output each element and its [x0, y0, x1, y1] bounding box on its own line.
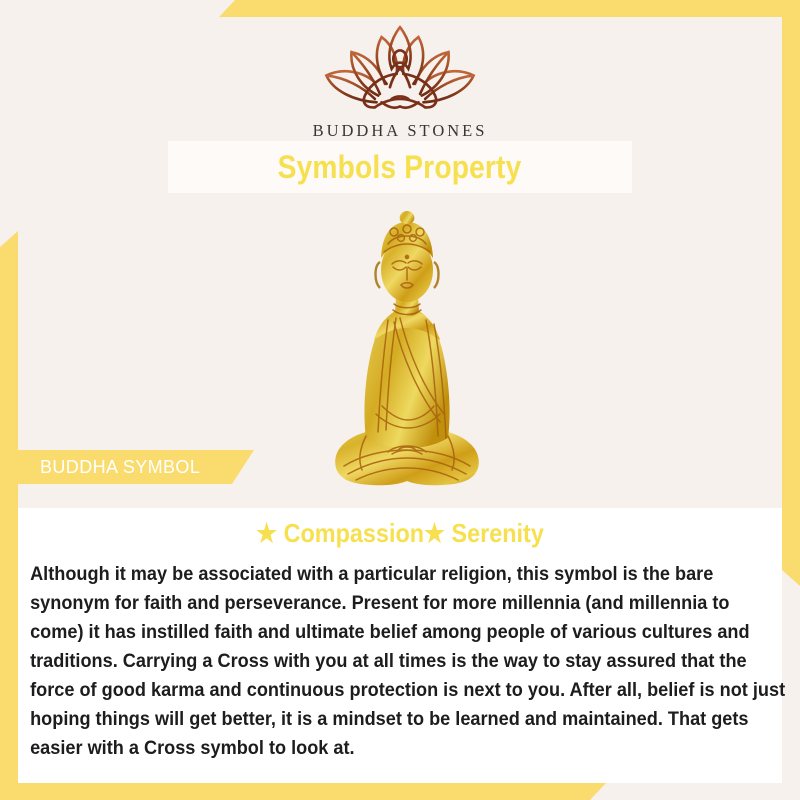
- title-band: Symbols Property: [168, 141, 632, 193]
- frame-accent-left: [0, 231, 18, 800]
- seated-buddha-statue: [322, 200, 492, 500]
- brand-block: BUDDHA STONES: [0, 22, 800, 141]
- frame-accent-top: [219, 0, 800, 17]
- article-body: Although it may be associated with a par…: [18, 549, 797, 763]
- article-panel: ★ Compassion★ Serenity Although it may b…: [18, 508, 782, 783]
- frame-accent-bottom: [0, 783, 606, 800]
- article-subtitle: ★ Compassion★ Serenity: [56, 508, 744, 549]
- lotus-meditation-icon: [0, 22, 800, 119]
- page-title: Symbols Property: [278, 149, 522, 186]
- brand-name: BUDDHA STONES: [0, 121, 800, 141]
- poster-canvas: BUDDHA STONES Symbols Property: [0, 0, 800, 800]
- symbol-ribbon: BUDDHA SYMBOL: [18, 450, 254, 484]
- symbol-ribbon-label: BUDDHA SYMBOL: [18, 457, 200, 478]
